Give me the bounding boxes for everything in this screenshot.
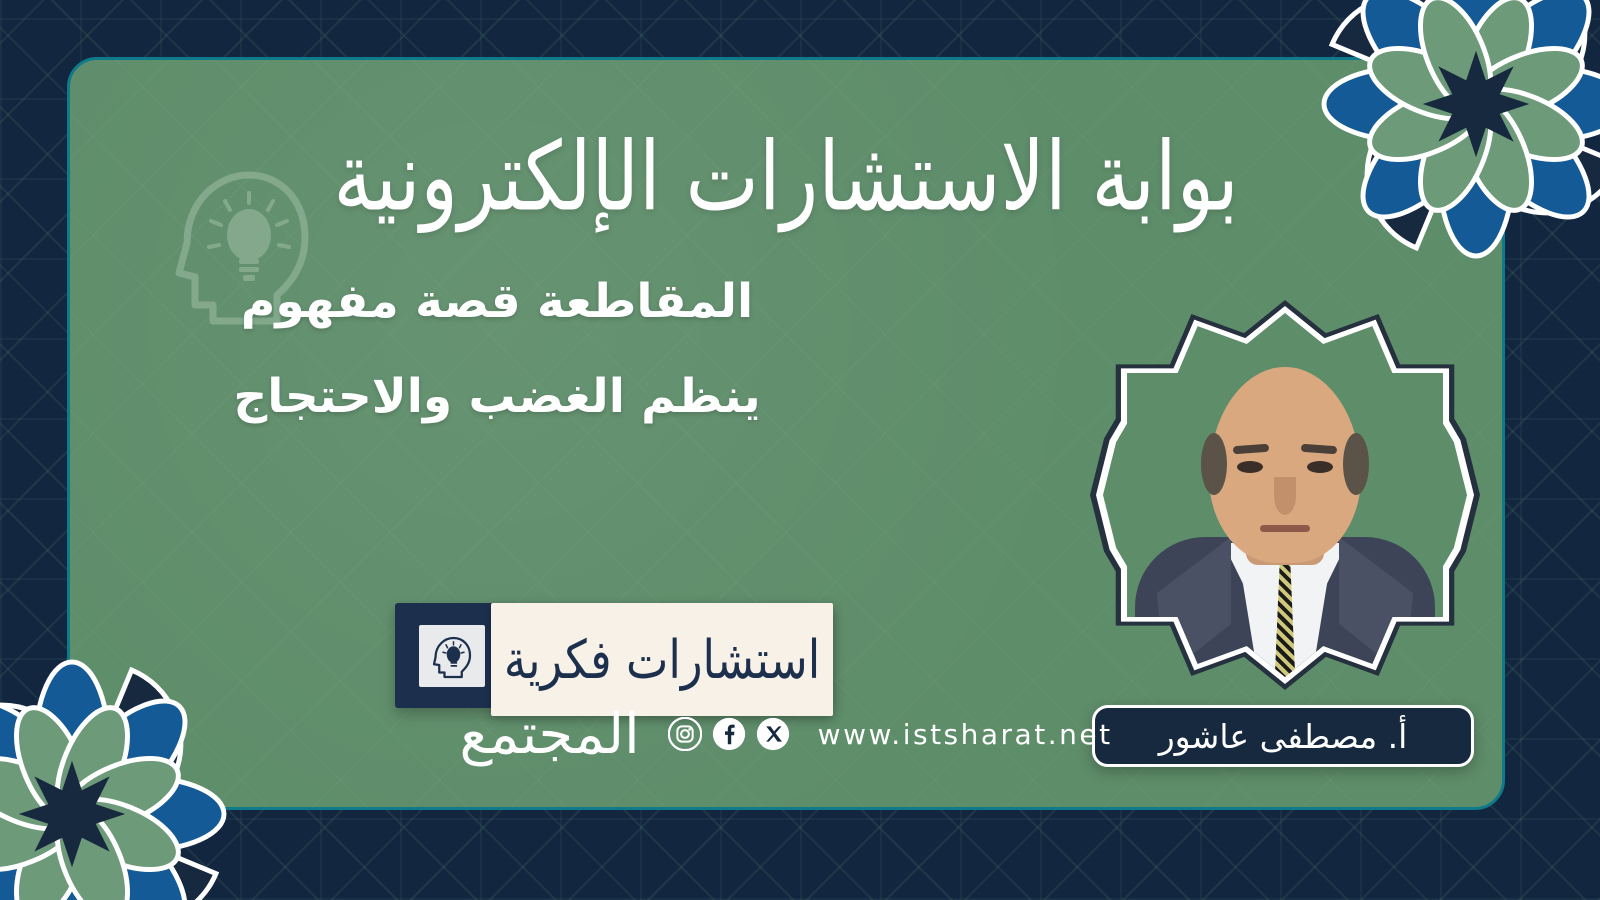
head-lightbulb-icon	[428, 632, 476, 680]
plaque-icon-box	[419, 625, 485, 687]
social-links	[668, 717, 790, 751]
title-line-1: المقاطعة قصة مفهوم	[197, 278, 797, 325]
x-twitter-icon[interactable]	[756, 717, 790, 751]
instagram-icon[interactable]	[668, 717, 702, 751]
footer-bar: المجتمع www.istsharat.net	[70, 689, 1502, 779]
plaque-calligraphy-text: استشارات فكرية	[504, 628, 820, 691]
main-card: بوابة الاستشارات الإلكترونية المقاطعة قص…	[67, 57, 1505, 810]
header-calligraphy-text: بوابة الاستشارات الإلكترونية	[333, 123, 1238, 233]
avatar	[1090, 300, 1480, 690]
website-url[interactable]: www.istsharat.net	[818, 718, 1113, 751]
poster-canvas: بوابة الاستشارات الإلكترونية المقاطعة قص…	[0, 0, 1600, 900]
brand-calligraphy-text: المجتمع	[459, 702, 639, 767]
title-line-2: ينظم الغضب والاحتجاج	[197, 373, 797, 420]
page-title: المقاطعة قصة مفهوم ينظم الغضب والاحتجاج	[197, 278, 797, 420]
facebook-icon[interactable]	[712, 717, 746, 751]
brand-logo: المجتمع	[459, 702, 639, 767]
